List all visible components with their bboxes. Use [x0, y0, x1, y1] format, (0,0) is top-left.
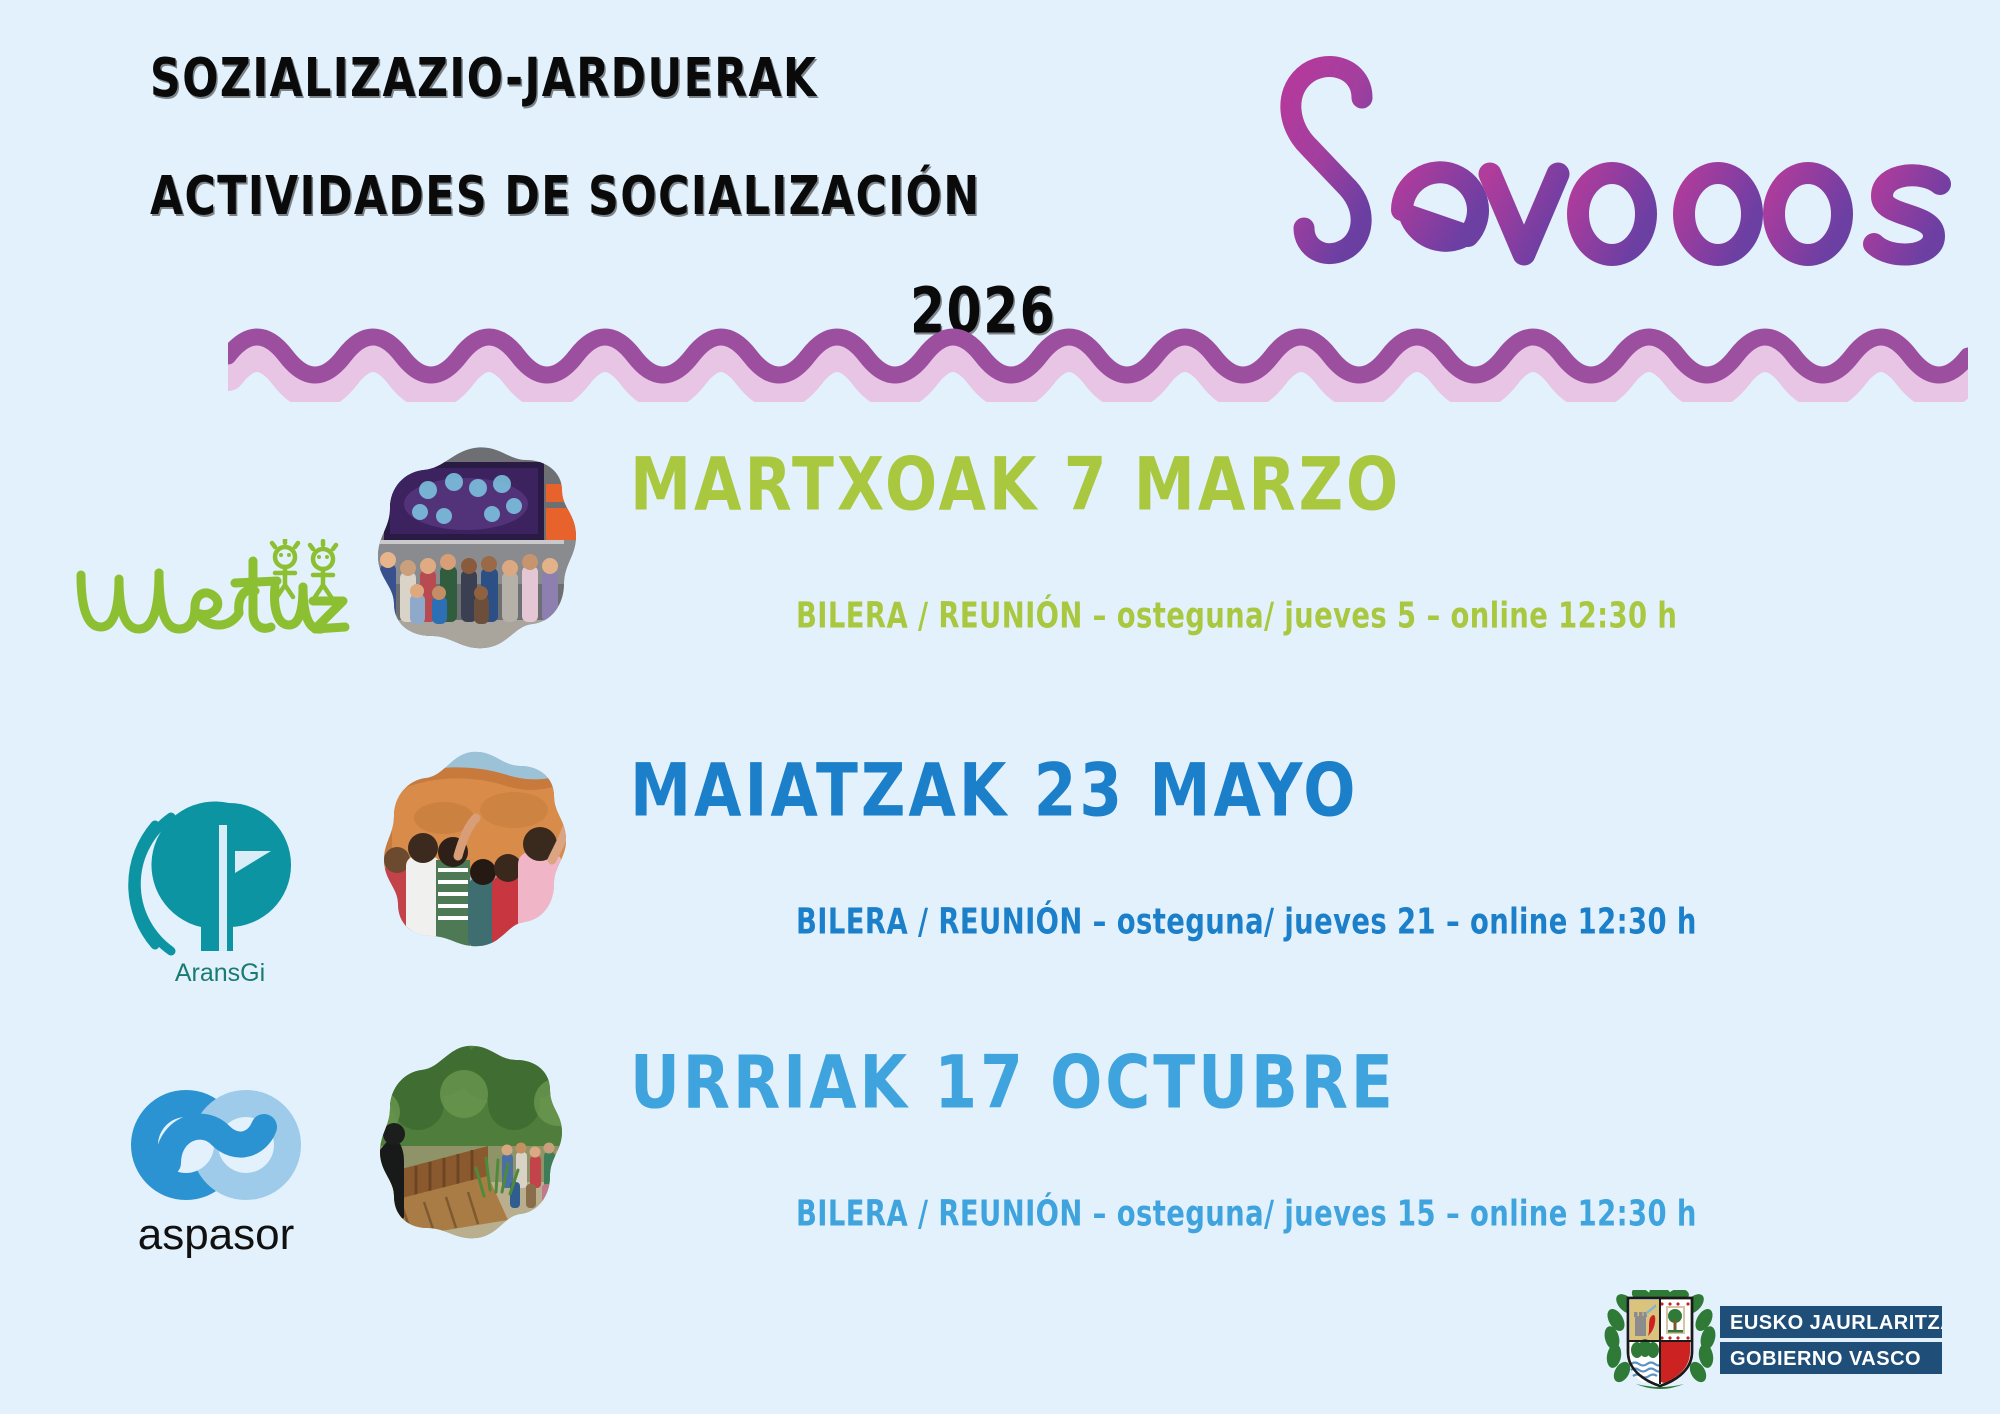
- aspasor-wordmark: aspasor: [138, 1210, 295, 1259]
- event-date-march: MARTXOAK 7 MARZO: [630, 448, 1957, 521]
- event-text-october: URRIAK 17 OCTUBRE BILERA / REUNIÓN – ost…: [630, 1046, 1970, 1224]
- event-meeting-march: BILERA / REUNIÓN – osteguna/ jueves 5 – …: [796, 598, 1947, 634]
- events-list: MARTXOAK 7 MARZO BILERA / REUNIÓN – oste…: [0, 452, 2000, 1322]
- ulertuz-logo: [60, 474, 360, 724]
- aspasor-logo: aspasor: [66, 1048, 366, 1298]
- title-spanish: ACTIVIDADES DE SOCIALIZACIÓN: [150, 170, 1169, 224]
- wave-divider: [228, 322, 1968, 402]
- event-meeting-may: BILERA / REUNIÓN – osteguna/ jueves 21 –…: [796, 904, 1947, 940]
- aransgi-wordmark: AransGi: [175, 959, 265, 987]
- event-row-may: AransGi: [0, 742, 2000, 1032]
- poster-header: SOZIALIZAZIO-JARDUERAK ACTIVIDADES DE SO…: [150, 38, 1200, 332]
- poster-canvas: SOZIALIZAZIO-JARDUERAK ACTIVIDADES DE SO…: [0, 0, 2000, 1414]
- event-photo-march: [366, 444, 582, 654]
- event-row-october: aspasor: [0, 1032, 2000, 1322]
- event-text-march: MARTXOAK 7 MARZO BILERA / REUNIÓN – oste…: [630, 448, 1970, 626]
- event-photo-may: [374, 748, 570, 952]
- gov-line2: GOBIERNO VASCO: [1730, 1348, 1921, 1370]
- gov-line1: EUSKO JAURLARITZA: [1730, 1312, 1942, 1334]
- event-meeting-october: BILERA / REUNIÓN – osteguna/ jueves 15 –…: [796, 1196, 1947, 1232]
- event-row-march: MARTXOAK 7 MARZO BILERA / REUNIÓN – oste…: [0, 452, 2000, 742]
- sevapas-wordmark: [1402, 172, 1940, 277]
- event-photo-october: [368, 1042, 568, 1242]
- sevapas-logo: [1252, 42, 1982, 277]
- event-date-october: URRIAK 17 OCTUBRE: [630, 1046, 1957, 1119]
- aransgi-logo: AransGi: [70, 766, 370, 1016]
- title-basque: SOZIALIZAZIO-JARDUERAK: [150, 52, 1169, 106]
- event-text-may: MAIATZAK 23 MAYO BILERA / REUNIÓN – oste…: [630, 754, 1970, 932]
- basque-government-logo: EUSKO JAURLARITZA GOBIERNO VASCO: [1602, 1290, 1942, 1392]
- sevapas-s-mark: [1291, 67, 1362, 254]
- event-date-may: MAIATZAK 23 MAYO: [630, 754, 1957, 827]
